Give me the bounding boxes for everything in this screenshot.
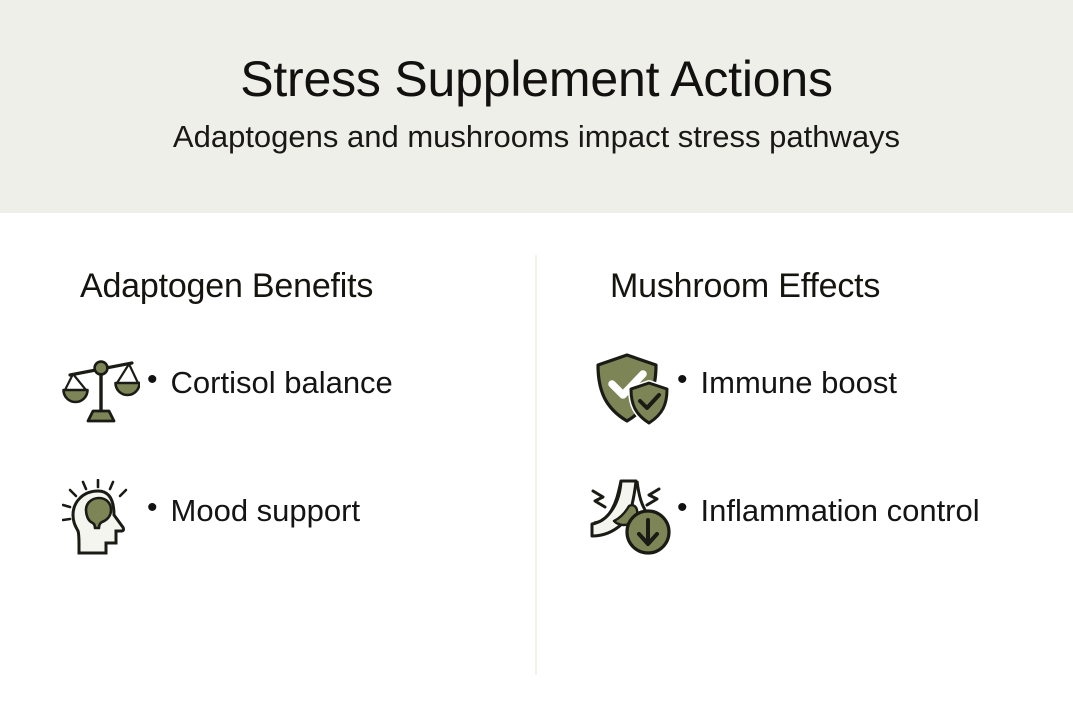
column-divider <box>535 255 537 675</box>
list-item-label: Mood support <box>171 488 361 533</box>
list-item-text: • Inflammation control <box>677 478 980 533</box>
list-item-text: • Mood support <box>147 478 360 533</box>
bullet-marker: • <box>677 360 688 400</box>
balance-scale-icon <box>55 350 147 428</box>
list-item: • Inflammation control <box>585 478 1065 556</box>
list-item: • Immune boost <box>585 350 1065 428</box>
benefit-list-left: • Cortisol balance <box>55 350 535 556</box>
column-heading-left: Adaptogen Benefits <box>55 213 535 306</box>
list-item-label: Immune boost <box>701 360 897 405</box>
page-title: Stress Supplement Actions <box>240 53 833 106</box>
header-band: Stress Supplement Actions Adaptogens and… <box>0 0 1073 213</box>
bullet-marker: • <box>147 360 158 400</box>
inflammation-down-arrow-icon <box>585 478 677 556</box>
column-adaptogen-benefits: Adaptogen Benefits <box>55 213 535 556</box>
head-brain-idea-icon <box>55 478 147 556</box>
content-area: Adaptogen Benefits <box>0 213 1073 720</box>
list-item: • Cortisol balance <box>55 350 535 428</box>
page-subtitle: Adaptogens and mushrooms impact stress p… <box>173 120 900 154</box>
list-item-label: Inflammation control <box>701 488 980 533</box>
double-shield-check-icon <box>585 350 677 428</box>
benefit-list-right: • Immune boost <box>585 350 1065 556</box>
column-mushroom-effects: Mushroom Effects <box>585 213 1065 556</box>
bullet-marker: • <box>677 488 688 528</box>
list-item: • Mood support <box>55 478 535 556</box>
list-item-label: Cortisol balance <box>171 360 393 405</box>
column-heading-right: Mushroom Effects <box>585 213 1065 306</box>
bullet-marker: • <box>147 488 158 528</box>
list-item-text: • Cortisol balance <box>147 350 393 405</box>
list-item-text: • Immune boost <box>677 350 897 405</box>
infographic-canvas: Stress Supplement Actions Adaptogens and… <box>0 0 1073 720</box>
